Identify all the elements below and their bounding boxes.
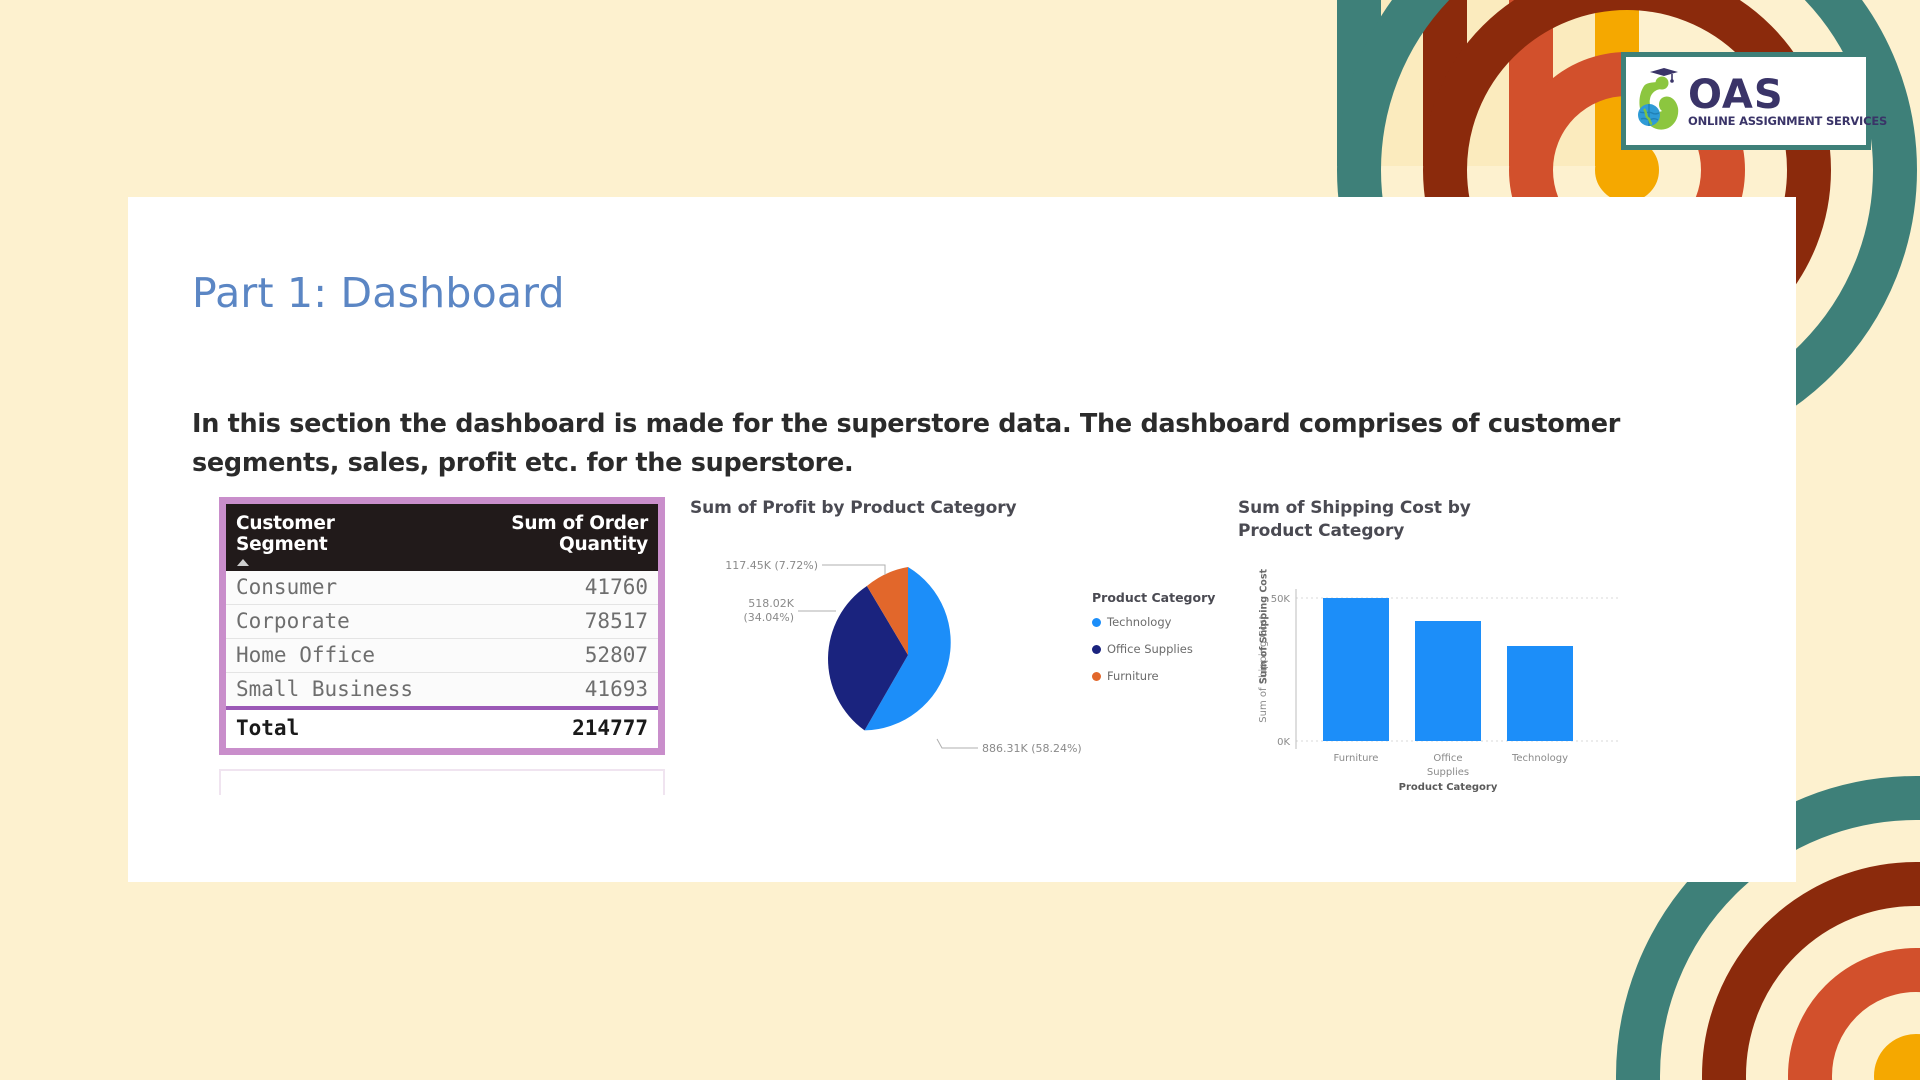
legend-label-furniture: Furniture (1107, 669, 1159, 683)
cell-quantity: 52807 (442, 639, 658, 673)
column-header-customer-segment-label: Customer Segment (236, 513, 335, 555)
sort-ascending-icon[interactable] (237, 559, 249, 566)
table-row[interactable]: Consumer 41760 (226, 571, 658, 605)
xtick-technology: Technology (1511, 753, 1568, 764)
cell-quantity: 41760 (442, 571, 658, 605)
pie-leader-furniture (822, 565, 885, 575)
cell-total-label: Total (226, 708, 442, 748)
deco-stripe-cream-1 (1381, 0, 1423, 166)
cell-quantity: 41693 (442, 673, 658, 709)
clipped-secondary-table (219, 769, 665, 795)
column-header-order-quantity-label: Sum of Order Quantity (511, 513, 648, 555)
bar-office-supplies[interactable] (1415, 621, 1481, 741)
bar-furniture[interactable] (1323, 598, 1389, 741)
ytick-50k: 50K (1271, 594, 1291, 605)
legend-swatch-office-supplies (1092, 645, 1101, 654)
legend-item-office-supplies[interactable]: Office Supplies (1092, 642, 1215, 656)
pie-leader-technology (937, 739, 978, 748)
table-total-row: Total 214777 (226, 708, 658, 748)
cell-quantity: 78517 (442, 605, 658, 639)
deco-stripe-brown-top (1423, 0, 1467, 166)
x-axis-label: Product Category (1399, 782, 1498, 793)
customer-segment-pivot-table[interactable]: Customer Segment Sum of Order Quantity C (219, 497, 665, 755)
bar-chart-title: Sum of Shipping Cost by Product Category (1238, 497, 1538, 543)
xtick-office-supplies-line1: Office (1433, 753, 1462, 764)
table-row[interactable]: Small Business 41693 (226, 673, 658, 709)
profit-by-product-category-pie-panel: Sum of Profit by Product Category (690, 497, 1250, 797)
pivot-table-container: Customer Segment Sum of Order Quantity C (219, 497, 665, 795)
legend-label-office-supplies: Office Supplies (1107, 642, 1193, 656)
deco-arc-brown-bottom (1702, 862, 1920, 1080)
table-header-row: Customer Segment Sum of Order Quantity (226, 504, 658, 571)
cell-total-value: 214777 (442, 708, 658, 748)
table-row[interactable]: Corporate 78517 (226, 605, 658, 639)
graduate-with-globe-icon (1634, 68, 1686, 134)
pie-slices (828, 567, 951, 730)
deco-stripe-cream-3 (1553, 0, 1595, 166)
pie-chart-plot: 117.45K (7.72%) 518.02K (34.04%) 886.31K… (690, 531, 1120, 781)
oas-logo: OAS ONLINE ASSIGNMENT SERVICES (1621, 52, 1871, 150)
page-title: Part 1: Dashboard (192, 269, 565, 317)
legend-label-technology: Technology (1107, 615, 1171, 629)
legend-title: Product Category (1092, 590, 1215, 605)
column-header-customer-segment[interactable]: Customer Segment (226, 504, 442, 571)
bar-technology[interactable] (1507, 646, 1573, 741)
deco-stripe-orangered-top (1509, 0, 1553, 166)
legend-swatch-furniture (1092, 672, 1101, 681)
pie-chart-title: Sum of Profit by Product Category (690, 497, 1250, 520)
dashboard-screenshot-region: Customer Segment Sum of Order Quantity C (128, 497, 1796, 882)
legend-swatch-technology (1092, 618, 1101, 627)
cell-segment: Home Office (226, 639, 442, 673)
deco-stripe-cream-2 (1467, 0, 1509, 166)
legend-item-technology[interactable]: Technology (1092, 615, 1215, 629)
column-header-order-quantity[interactable]: Sum of Order Quantity (442, 504, 658, 571)
xtick-furniture: Furniture (1334, 753, 1379, 764)
shipping-cost-by-product-category-panel: Sum of Shipping Cost by Product Category… (1238, 497, 1718, 827)
xtick-office-supplies-line2: Supplies (1427, 767, 1469, 778)
pie-label-furniture: 117.45K (7.72%) (725, 559, 818, 572)
cell-segment: Small Business (226, 673, 442, 709)
intro-paragraph: In this section the dashboard is made fo… (192, 405, 1737, 484)
legend-item-furniture[interactable]: Furniture (1092, 669, 1215, 683)
deco-arc-golden-bottom (1874, 1034, 1920, 1080)
deco-arc-orangered-bottom (1788, 948, 1920, 1080)
slide-content-card: Part 1: Dashboard In this section the da… (128, 197, 1796, 882)
pie-label-office-supplies-value: 518.02K (748, 597, 794, 610)
pie-chart-legend: Product Category Technology Office Suppl… (1092, 590, 1215, 696)
pie-label-office-supplies-percent: (34.04%) (743, 611, 794, 624)
logo-tagline: ONLINE ASSIGNMENT SERVICES (1688, 116, 1887, 128)
pie-label-technology: 886.31K (58.24%) (982, 742, 1082, 755)
cell-segment: Corporate (226, 605, 442, 639)
y-axis-title: Sum of Shipping Cost (1259, 557, 1270, 697)
table-row[interactable]: Home Office 52807 (226, 639, 658, 673)
deco-stripe-teal-top (1337, 0, 1381, 166)
logo-wordmark: OAS (1688, 75, 1887, 115)
bar-chart-plot: 50K 0K Sum of Shipping Cost Furniture Of… (1238, 549, 1648, 819)
slide-canvas: OAS ONLINE ASSIGNMENT SERVICES Part 1: D… (0, 0, 1920, 1080)
cell-segment: Consumer (226, 571, 442, 605)
ytick-0k: 0K (1277, 737, 1290, 748)
